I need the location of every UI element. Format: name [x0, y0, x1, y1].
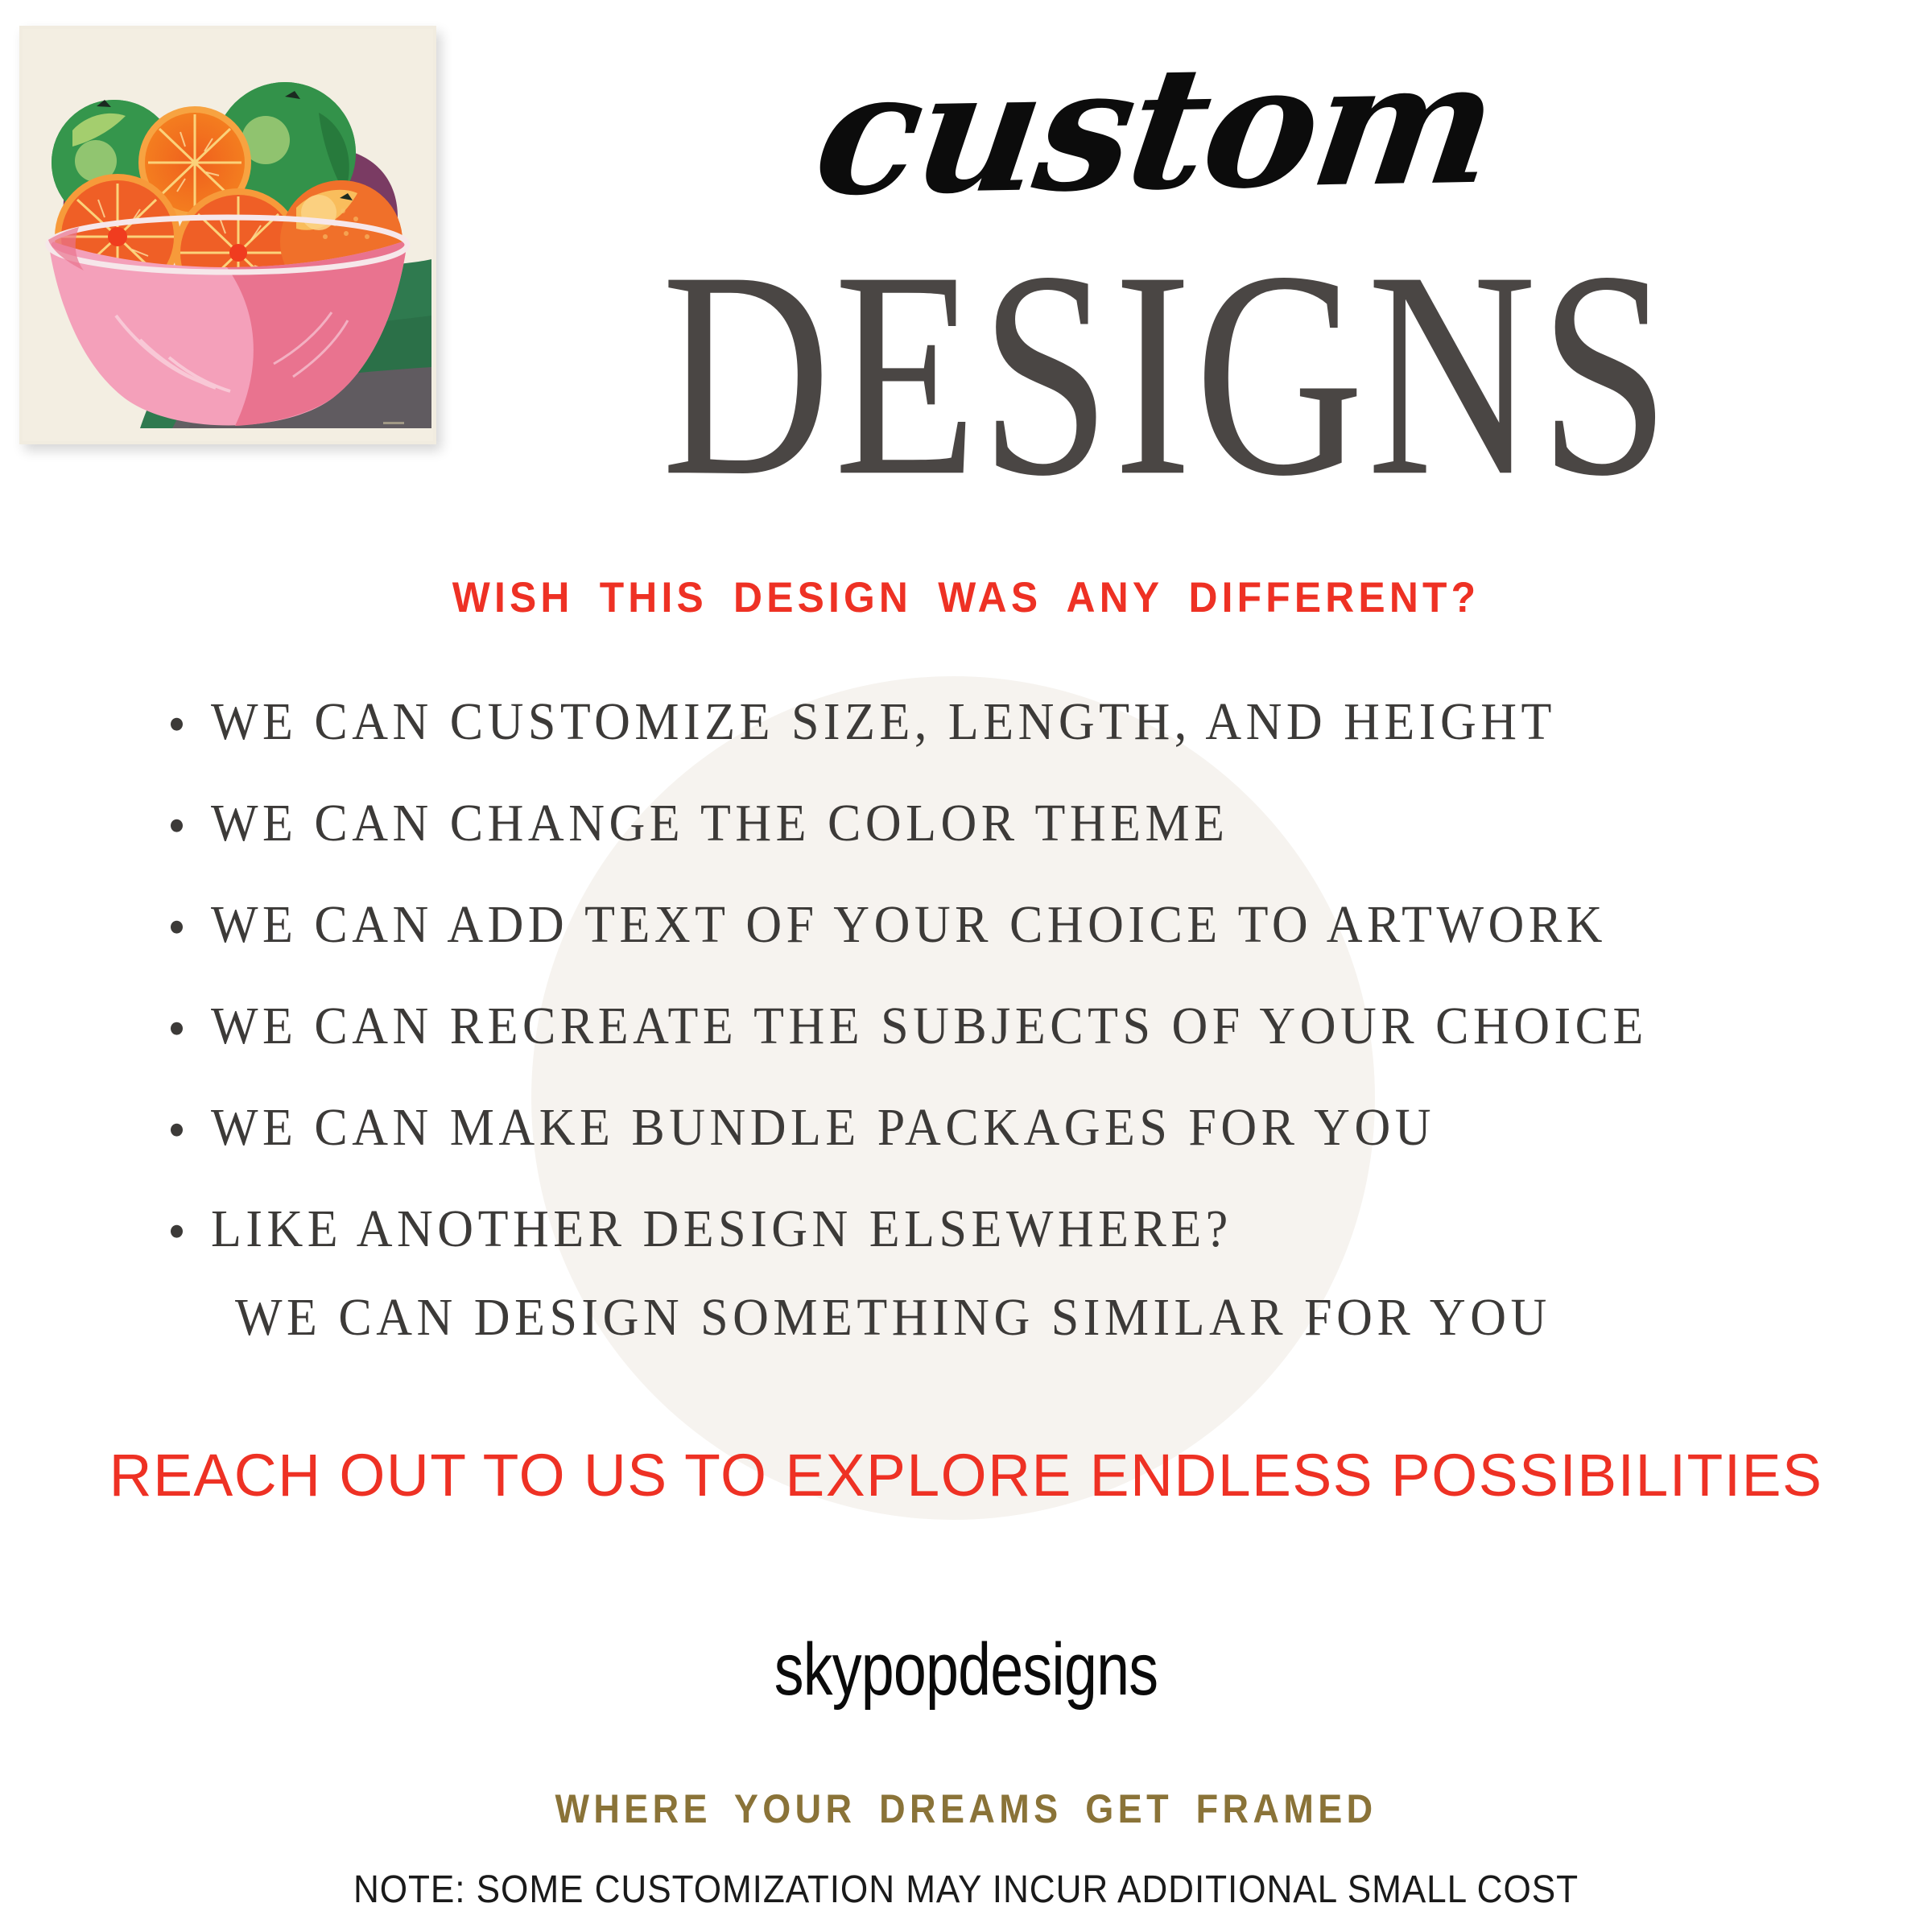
list-item: WE CAN ADD TEXT OF YOUR CHOICE TO ARTWOR… [158, 898, 1832, 952]
list-item: LIKE ANOTHER DESIGN ELSEWHERE? [158, 1203, 1832, 1256]
bullet-icon [171, 1225, 183, 1238]
list-item-label: WE CAN DESIGN SOMETHING SIMILAR FOR YOU [235, 1289, 1551, 1347]
call-to-action-text: REACH OUT TO US TO EXPLORE ENDLESS POSSI… [10, 1441, 1922, 1509]
fruit-bowl-illustration [19, 26, 436, 444]
list-item-label: WE CAN ADD TEXT OF YOUR CHOICE TO ARTWOR… [211, 896, 1607, 954]
bullet-icon [171, 921, 183, 934]
bullet-icon [171, 819, 183, 832]
list-item-continuation: WE CAN DESIGN SOMETHING SIMILAR FOR YOU [158, 1291, 1832, 1344]
headline-script-word: custom [414, 35, 1897, 221]
brand-tagline: WHERE YOUR DREAMS GET FRAMED [97, 1785, 1835, 1832]
brand-name: skypopdesigns [193, 1628, 1739, 1712]
question-subtitle: WISH THIS DESIGN WAS ANY DIFFERENT? [58, 573, 1874, 622]
bullet-icon [171, 1022, 183, 1035]
list-item-label: WE CAN RECREATE THE SUBJECTS OF YOUR CHO… [211, 997, 1648, 1055]
listing-graphic-canvas: custom DESIGNS WISH THIS DESIGN WAS ANY … [0, 0, 1932, 1932]
list-item-label: WE CAN CHANGE THE COLOR THEME [211, 795, 1229, 852]
bullet-icon [171, 1124, 183, 1137]
feature-list: WE CAN CUSTOMIZE SIZE, LENGTH, AND HEIGH… [158, 697, 1832, 1394]
footer-note: NOTE: SOME CUSTOMIZATION MAY INCUR ADDIT… [77, 1868, 1855, 1912]
list-item-label: WE CAN CUSTOMIZE SIZE, LENGTH, AND HEIGH… [211, 693, 1556, 751]
artwork-thumbnail[interactable] [19, 26, 436, 444]
list-item: WE CAN MAKE BUNDLE PACKAGES FOR YOU [158, 1101, 1832, 1154]
headline-block: custom DESIGNS [451, 48, 1884, 451]
list-item-label: LIKE ANOTHER DESIGN ELSEWHERE? [211, 1200, 1232, 1258]
list-item: WE CAN CHANGE THE COLOR THEME [158, 797, 1832, 850]
list-item: WE CAN RECREATE THE SUBJECTS OF YOUR CHO… [158, 1000, 1832, 1053]
list-item: WE CAN CUSTOMIZE SIZE, LENGTH, AND HEIGH… [158, 696, 1832, 749]
headline-main-word: DESIGNS [473, 253, 1863, 494]
list-item-label: WE CAN MAKE BUNDLE PACKAGES FOR YOU [211, 1099, 1435, 1157]
bullet-icon [171, 718, 183, 731]
